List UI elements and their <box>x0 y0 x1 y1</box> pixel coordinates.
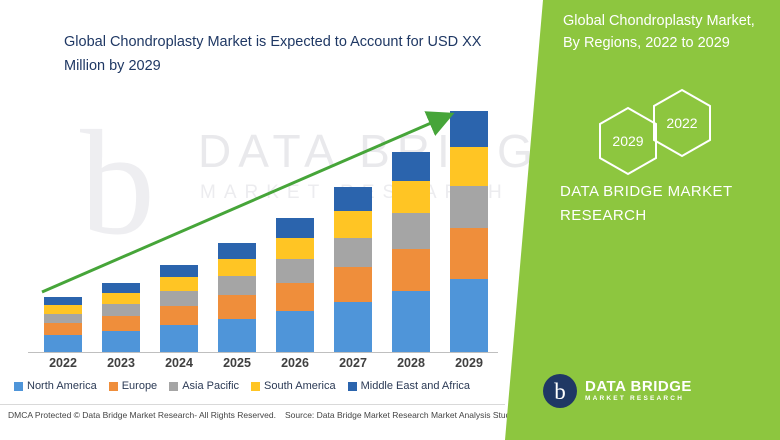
x-axis-label-2029: 2029 <box>439 356 499 370</box>
x-axis-line <box>28 352 498 353</box>
x-axis-label-2026: 2026 <box>265 356 325 370</box>
x-axis-label-2025: 2025 <box>207 356 267 370</box>
hexagon-badges: 2029 2022 <box>593 88 763 178</box>
company-name-line1: DATA BRIDGE MARKET <box>560 180 770 204</box>
x-axis-label-2027: 2027 <box>323 356 383 370</box>
footer-source: Source: Data Bridge Market Research Mark… <box>285 410 536 420</box>
brand-logo-sub: MARKET RESEARCH <box>585 396 692 403</box>
footer-copyright: DMCA Protected © Data Bridge Market Rese… <box>8 410 276 420</box>
legend-label: Europe <box>122 380 157 392</box>
legend-item-europe: Europe <box>109 380 157 392</box>
page-title: Global Chondroplasty Market is Expected … <box>64 30 494 78</box>
hex-badge-2029: 2029 <box>597 106 659 176</box>
x-axis-label-2028: 2028 <box>381 356 441 370</box>
legend-label: South America <box>264 380 336 392</box>
legend-label: Asia Pacific <box>182 380 239 392</box>
legend-item-asia-pacific: Asia Pacific <box>169 380 239 392</box>
svg-text:b: b <box>554 379 566 404</box>
legend-swatch <box>109 382 118 391</box>
hex-badge-2029-label: 2029 <box>612 133 643 149</box>
x-axis-label-2024: 2024 <box>149 356 209 370</box>
company-name-text: DATA BRIDGE MARKET RESEARCH <box>560 180 770 228</box>
brand-logo-icon: b <box>543 374 577 408</box>
brand-logo-name: DATA BRIDGE <box>585 379 692 395</box>
growth-arrow <box>0 96 505 352</box>
legend-label: North America <box>27 380 97 392</box>
legend-swatch <box>348 382 357 391</box>
brand-logo: b DATA BRIDGE MARKET RESEARCH <box>543 374 692 408</box>
x-axis-label-2022: 2022 <box>33 356 93 370</box>
legend-swatch <box>251 382 260 391</box>
right-panel-title: Global Chondroplasty Market, By Regions,… <box>563 10 763 54</box>
right-green-panel: Global Chondroplasty Market, By Regions,… <box>505 0 780 440</box>
legend-item-middle-east-and-africa: Middle East and Africa <box>348 380 470 392</box>
x-axis-label-2023: 2023 <box>91 356 151 370</box>
legend-label: Middle East and Africa <box>361 380 470 392</box>
legend-item-north-america: North America <box>14 380 97 392</box>
hex-badge-2022: 2022 <box>651 88 713 158</box>
x-axis-labels: 20222023202420252026202720282029 <box>0 356 505 378</box>
company-name-line2: RESEARCH <box>560 204 770 228</box>
hex-badge-2022-label: 2022 <box>666 115 697 131</box>
legend-swatch <box>14 382 23 391</box>
legend-item-south-america: South America <box>251 380 336 392</box>
brand-logo-text: DATA BRIDGE MARKET RESEARCH <box>585 379 692 404</box>
chart-legend: North AmericaEuropeAsia PacificSouth Ame… <box>14 380 504 392</box>
footer-divider <box>0 404 505 405</box>
chart-panel: Global Chondroplasty Market is Expected … <box>0 0 540 440</box>
legend-swatch <box>169 382 178 391</box>
